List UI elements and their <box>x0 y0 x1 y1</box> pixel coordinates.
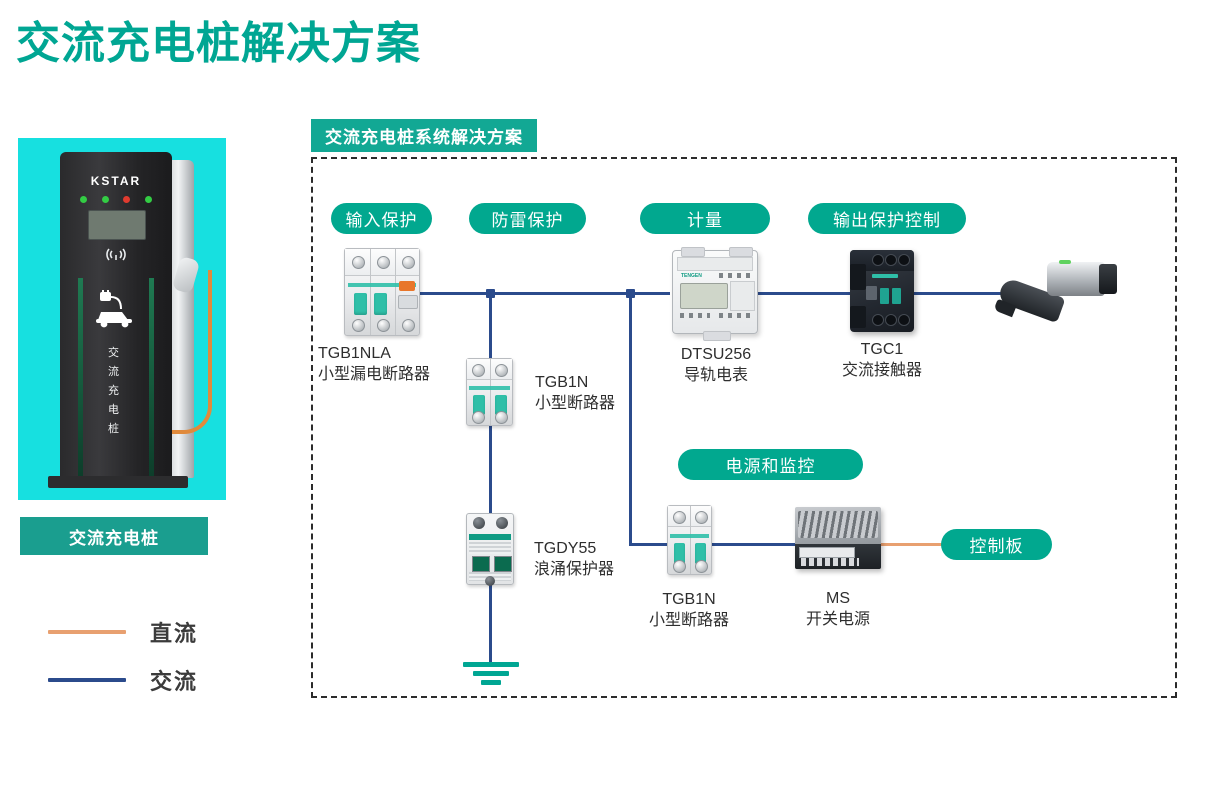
ac-wire-spd-to-ground <box>489 583 492 663</box>
caption-contactor-tgc1: TGC1 交流接触器 <box>826 339 938 381</box>
ground-symbol <box>463 662 519 689</box>
ev-charging-gun <box>995 258 1125 330</box>
legend-label: 直流 <box>150 616 198 648</box>
device-desc: 交流接触器 <box>826 360 938 381</box>
device-desc: 小型断路器 <box>535 393 615 414</box>
dc-line-swatch <box>48 630 126 634</box>
ac-line-swatch <box>48 678 126 682</box>
diagram-header-badge: 交流充电桩系统解决方案 <box>311 119 537 152</box>
chip-input-protection: 输入保护 <box>331 203 432 234</box>
device-mcb-tgb1n-aux <box>667 505 712 575</box>
chip-output-control: 输出保护控制 <box>808 203 966 234</box>
caption-mcb-tgb1n-aux: TGB1N 小型断路器 <box>633 589 745 631</box>
ac-wire-spd-branch-lower <box>489 425 492 518</box>
caption-psu-ms: MS 开关电源 <box>782 588 894 630</box>
pile-vertical-text: 交 流 充 电 桩 <box>60 344 172 439</box>
spd-brand-band <box>469 534 511 540</box>
dc-wire-psu-to-control-board <box>880 543 943 546</box>
chip-power-monitoring: 电源和监控 <box>678 449 863 480</box>
legend-item-dc: 直流 <box>48 608 198 656</box>
ac-wire-psu-branch <box>629 292 632 546</box>
ev-charge-icon <box>88 290 144 328</box>
legend-label: 交流 <box>150 664 198 696</box>
chip-control-board: 控制板 <box>941 529 1052 560</box>
psu-vent-grille <box>798 511 878 538</box>
wire-junction-node <box>626 289 635 298</box>
gun-status-led-icon <box>1059 260 1071 264</box>
device-model: TGDY55 <box>534 538 614 559</box>
device-contactor-tgc1 <box>850 250 914 332</box>
device-model: DTSU256 <box>660 344 772 365</box>
led-indicator <box>123 196 130 203</box>
charging-cable <box>168 270 212 434</box>
device-spd-tgdy55 <box>466 513 514 585</box>
device-model: TGC1 <box>826 339 938 360</box>
device-model: TGB1N <box>535 372 615 393</box>
led-indicator <box>102 196 109 203</box>
charging-pile-photo: KSTAR <box>18 138 226 500</box>
device-mcb-tgb1n-main <box>466 358 513 426</box>
wire-junction-node <box>486 289 495 298</box>
chip-metering: 计量 <box>640 203 770 234</box>
page-title: 交流充电桩解决方案 <box>16 20 421 68</box>
caption-meter-dtsu256: DTSU256 导轨电表 <box>660 344 772 386</box>
device-psu-ms <box>795 507 881 569</box>
device-desc: 开关电源 <box>782 609 894 630</box>
ac-wire-meter-to-contactor <box>757 292 857 295</box>
device-desc: 小型断路器 <box>633 610 745 631</box>
pile-base-plate <box>48 476 188 488</box>
device-model: MS <box>782 588 894 609</box>
device-model: TGB1NLA <box>318 343 430 364</box>
pile-body: KSTAR <box>60 152 172 482</box>
legend-item-ac: 交流 <box>48 656 198 704</box>
rfid-wave-icon <box>60 246 172 267</box>
chip-surge-protection: 防雷保护 <box>469 203 586 234</box>
pile-led-indicators <box>80 196 152 203</box>
led-indicator <box>80 196 87 203</box>
gun-barrel <box>1047 262 1105 296</box>
device-rcbo-tgb1nla <box>344 248 420 336</box>
led-indicator <box>145 196 152 203</box>
ac-wire-spd-branch-upper <box>489 292 492 358</box>
ac-wire-mcb-to-psu <box>710 543 795 546</box>
pile-brand-label: KSTAR <box>60 174 172 188</box>
caption-rcbo-tgb1nla: TGB1NLA 小型漏电断路器 <box>318 343 430 385</box>
charging-pile-caption: 交流充电桩 <box>20 517 208 555</box>
slide-root: 交流充电桩解决方案 KSTAR <box>0 0 1213 812</box>
device-model: TGB1N <box>633 589 745 610</box>
device-desc: 导轨电表 <box>660 365 772 386</box>
legend: 直流 交流 <box>48 608 198 704</box>
psu-front-panel <box>795 544 881 569</box>
gun-end-cap <box>1099 264 1117 294</box>
pile-display-screen <box>88 210 146 240</box>
device-meter-dtsu256: TENGEN <box>672 250 758 334</box>
caption-mcb-tgb1n-main: TGB1N 小型断路器 <box>535 372 615 414</box>
device-desc: 小型漏电断路器 <box>318 364 430 385</box>
device-desc: 浪涌保护器 <box>534 559 614 580</box>
caption-spd-tgdy55: TGDY55 浪涌保护器 <box>534 538 614 580</box>
